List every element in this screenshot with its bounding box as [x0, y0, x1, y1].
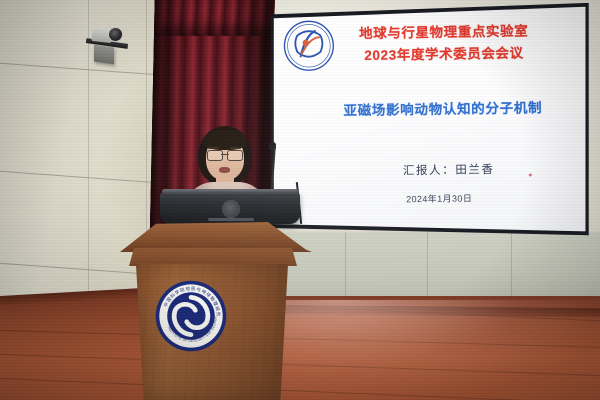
- eyebrow-left: [208, 147, 219, 149]
- ptz-camera-icon: [84, 24, 130, 64]
- igg-cas-emblem-icon: 中国科学院地质与地球物理研究所 INSTITUTE OF GEOLOGY AND…: [155, 280, 227, 352]
- monitor-top-edge: [162, 189, 298, 194]
- slide-red-title: 地球与行星物理重点实验室 2023年度学术委员会会议: [319, 20, 570, 67]
- curtain-valance: [154, 0, 275, 36]
- dell-logo-icon: [222, 200, 240, 218]
- slide-content: 地球与行星物理重点实验室 2023年度学术委员会会议 亚磁场影响动物认知的分子机…: [266, 0, 592, 242]
- projection-screen: 地球与行星物理重点实验室 2023年度学术委员会会议 亚磁场影响动物认知的分子机…: [268, 0, 590, 240]
- podium-top-surface: [112, 222, 312, 252]
- camera-bracket: [94, 45, 114, 65]
- mouth: [219, 167, 230, 173]
- slide-red-title-line2: 2023年度学术委员会会议: [319, 42, 569, 68]
- podium-lip: [129, 248, 297, 266]
- conference-presentation-photo: 地球与行星物理重点实验室 2023年度学术委员会会议 亚磁场影响动物认知的分子机…: [0, 0, 600, 400]
- camera-lens-icon: [107, 26, 123, 42]
- speaker-podium: 中国科学院地质与地球物理研究所 INSTITUTE OF GEOLOGY AND…: [112, 222, 312, 400]
- glasses-icon: [207, 150, 243, 159]
- slide-presenter: 汇报人：田兰香: [329, 160, 569, 180]
- slide-date: 2024年1月30日: [329, 190, 549, 206]
- eyebrow-right: [230, 147, 241, 149]
- monitor-label-strip: [208, 218, 254, 221]
- dell-monitor: [160, 192, 300, 224]
- slide-blue-title: 亚磁场影响动物认知的分子机制: [308, 96, 578, 120]
- slide-bullet-dot: [529, 173, 532, 176]
